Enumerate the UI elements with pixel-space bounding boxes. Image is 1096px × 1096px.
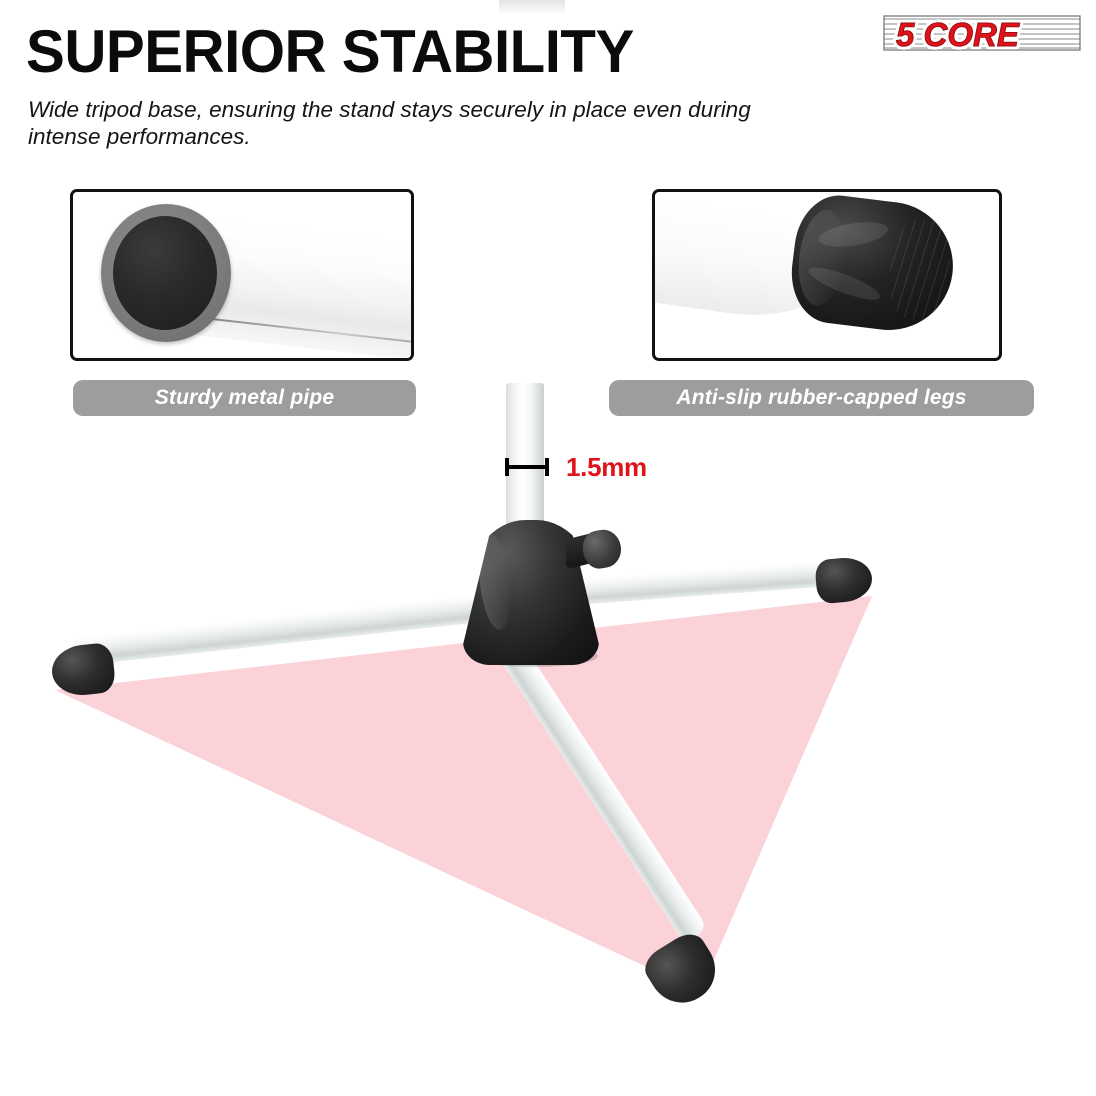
tripod-illustration: 1.5mm — [0, 0, 1096, 1096]
tripod-leg-left — [71, 592, 502, 666]
infographic-canvas: SUPERIOR STABILITY Wide tripod base, ens… — [0, 0, 1096, 1096]
dimension-marker-icon — [496, 455, 558, 479]
tripod-foot-left — [50, 642, 117, 698]
measurement-label: 1.5mm — [566, 452, 647, 483]
tripod-leg-front — [488, 626, 708, 943]
tripod-foot-front — [639, 927, 728, 1015]
tripod-foot-right — [814, 556, 874, 605]
